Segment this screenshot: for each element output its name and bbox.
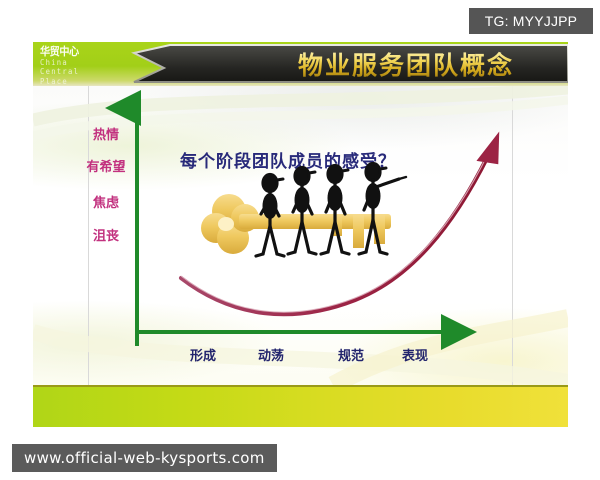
stick-figure-1: [256, 175, 284, 257]
slide-footer-bar: [33, 385, 568, 427]
slide-title: 物业服务团队概念: [256, 49, 556, 82]
stick-figure-3: [321, 166, 349, 255]
title-banner-shape: 物业服务团队概念: [106, 44, 568, 83]
pointing-hand: [399, 177, 406, 179]
logo-chinese-name: 华贸中心: [40, 43, 101, 57]
logo-english-line-1: China: [40, 59, 99, 67]
company-logo: 华贸中心 China Central Place: [40, 43, 106, 86]
curve-arrowhead-icon: [476, 128, 506, 166]
presentation-slide: 华贸中心 China Central Place: [33, 42, 568, 427]
logo-english-line-3: Place: [40, 78, 99, 86]
site-watermark: www.official-web-kysports.com: [12, 444, 277, 472]
logo-english-line-2: Central: [40, 68, 99, 76]
telegram-handle-badge: TG: MYYJJPP: [469, 8, 593, 34]
stick-figure-2: [288, 168, 316, 255]
slide-header-band: 华贸中心 China Central Place: [33, 42, 568, 86]
slide-body: 每个阶段团队成员的感受？ 热情 有希望 焦虑 沮丧 形成 动荡 规范 表现: [33, 86, 568, 385]
